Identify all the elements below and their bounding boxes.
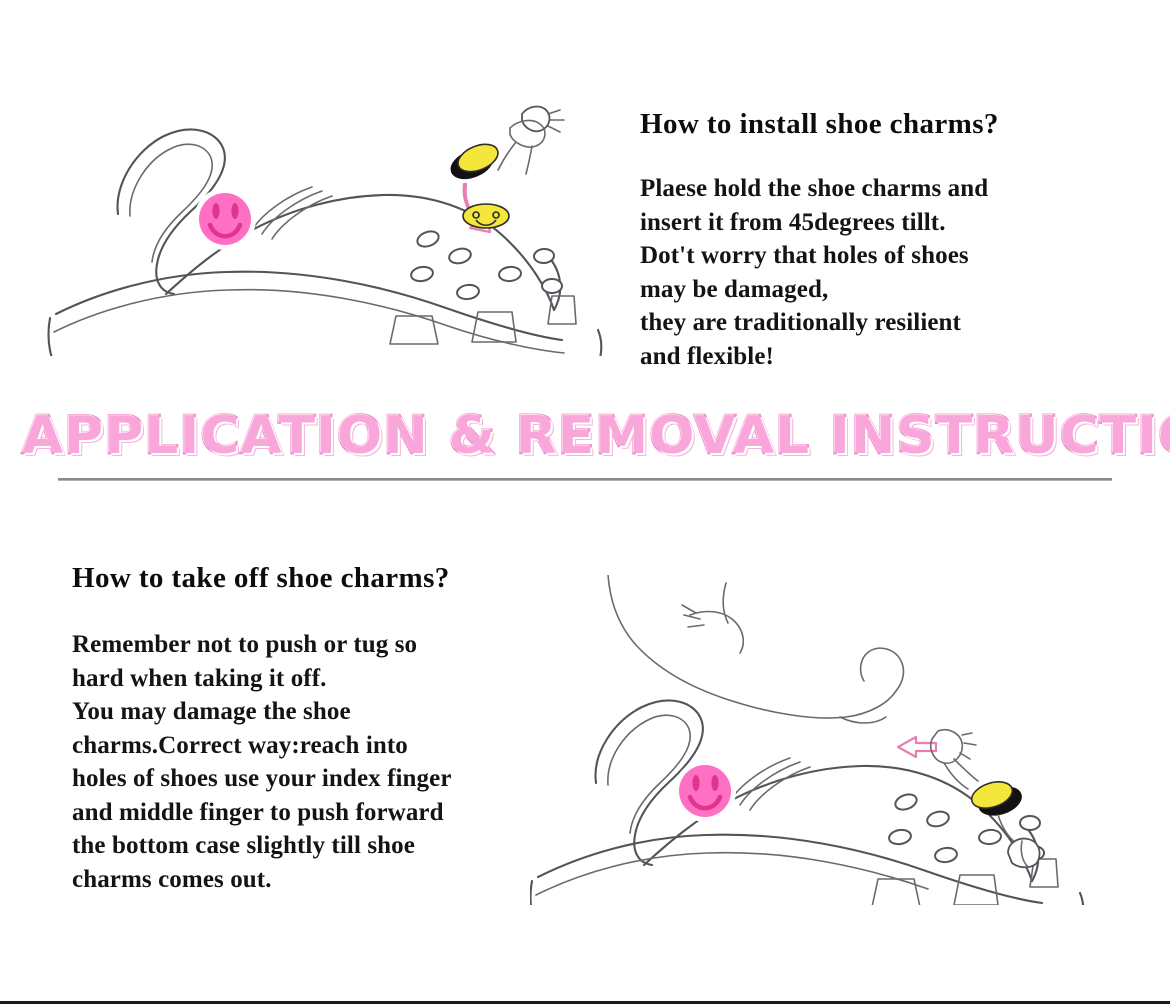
- removal-body-line: You may damage the shoe: [72, 695, 562, 729]
- shoe-install-svg: [40, 96, 620, 356]
- banner-title: APPLICATION & REMOVAL INSTRUCTIONS: [22, 405, 1170, 467]
- charm-insertion-group: [447, 107, 564, 232]
- hand-reaching-icon: [608, 575, 903, 723]
- removal-body-line: hard when taking it off.: [72, 662, 562, 696]
- install-body-line: Plaese hold the shoe charms and: [640, 172, 1110, 206]
- removal-body: Remember not to push or tug so hard when…: [72, 628, 562, 896]
- removal-body-line: the bottom case slightly till shoe: [72, 829, 562, 863]
- install-body: Plaese hold the shoe charms and insert i…: [640, 172, 1110, 373]
- removal-body-line: and middle finger to push forward: [72, 796, 562, 830]
- install-body-line: they are traditionally resilient: [640, 306, 1110, 340]
- section-divider: [58, 478, 1112, 481]
- removal-body-line: charms.Correct way:reach into: [72, 729, 562, 763]
- removal-body-line: Remember not to push or tug so: [72, 628, 562, 662]
- install-body-line: and flexible!: [640, 340, 1110, 374]
- pink-smiley-charm-attached: [194, 188, 256, 250]
- removal-body-line: charms comes out.: [72, 863, 562, 897]
- shoe-ventilation-holes: [410, 229, 562, 301]
- removal-heading: How to take off shoe charms?: [72, 562, 450, 595]
- clog-shoe-install-illustration: [40, 96, 620, 356]
- pink-smiley-charm-attached: [674, 760, 736, 822]
- shoe-removal-svg: [530, 575, 1110, 905]
- charm-removal-group: [898, 730, 1040, 868]
- install-heading: How to install shoe charms?: [640, 108, 999, 141]
- install-body-line: Dot't worry that holes of shoes: [640, 239, 1110, 273]
- install-body-line: insert it from 45degrees tillt.: [640, 206, 1110, 240]
- install-body-line: may be damaged,: [640, 273, 1110, 307]
- removal-body-line: holes of shoes use your index finger: [72, 762, 562, 796]
- clog-shoe-removal-illustration: [530, 575, 1110, 905]
